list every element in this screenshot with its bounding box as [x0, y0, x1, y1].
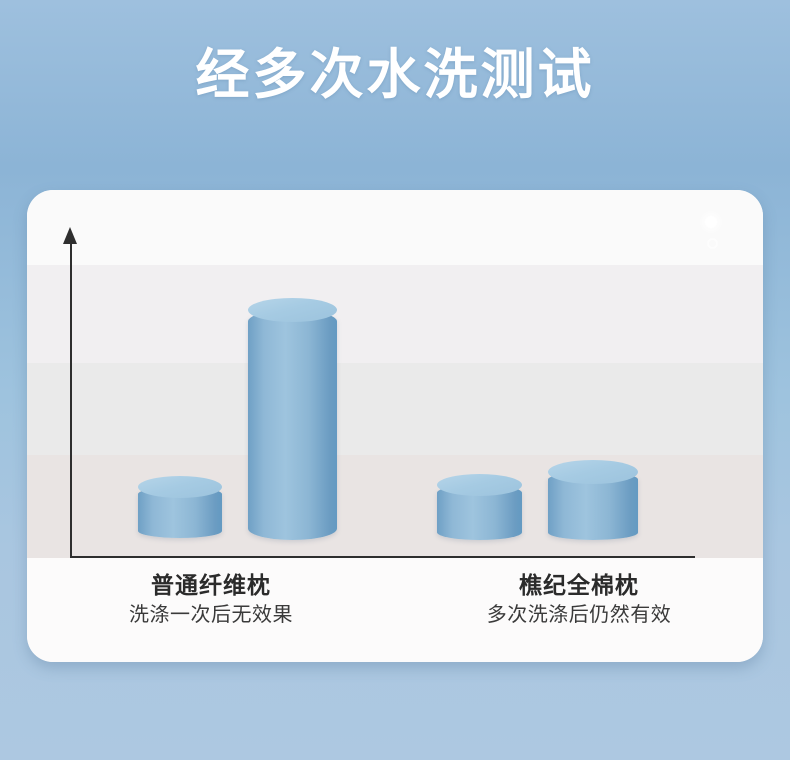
group-subtitle-qiaoji-cotton-pillow: 多次洗涤后仍然有效 — [395, 601, 763, 630]
bar-cylinder-1-top — [138, 476, 222, 498]
bar-cylinder-2-top — [248, 298, 337, 322]
group-title-ordinary-fiber-pillow: 普通纤维枕 — [27, 570, 395, 601]
bar-cylinder-2 — [248, 310, 337, 540]
x-axis-line — [70, 556, 695, 558]
group-label-qiaoji-cotton-pillow: 樵纪全棉枕 多次洗涤后仍然有效 — [395, 570, 763, 630]
bright-dot-icon — [705, 216, 717, 228]
x-axis-group-labels: 普通纤维枕 洗涤一次后无效果 樵纪全棉枕 多次洗涤后仍然有效 — [27, 570, 763, 630]
bar-cylinder-3-top — [437, 474, 522, 496]
page-title: 经多次水洗测试 — [0, 46, 790, 105]
chart-card: 普通纤维枕 洗涤一次后无效果 樵纪全棉枕 多次洗涤后仍然有效 — [27, 190, 763, 662]
bar-cylinder-4 — [548, 472, 638, 540]
group-label-ordinary-fiber-pillow: 普通纤维枕 洗涤一次后无效果 — [27, 570, 395, 630]
ring-dot-icon — [707, 238, 718, 249]
bar-cylinder-2-body — [248, 310, 337, 540]
group-title-qiaoji-cotton-pillow: 樵纪全棉枕 — [395, 570, 763, 601]
y-axis-line — [70, 235, 72, 558]
bar-cylinder-4-top — [548, 460, 638, 484]
bar-chart-plot-area — [27, 190, 763, 558]
bar-cylinder-3 — [437, 485, 522, 540]
bar-cylinder-1 — [138, 487, 222, 538]
group-subtitle-ordinary-fiber-pillow: 洗涤一次后无效果 — [27, 601, 395, 630]
